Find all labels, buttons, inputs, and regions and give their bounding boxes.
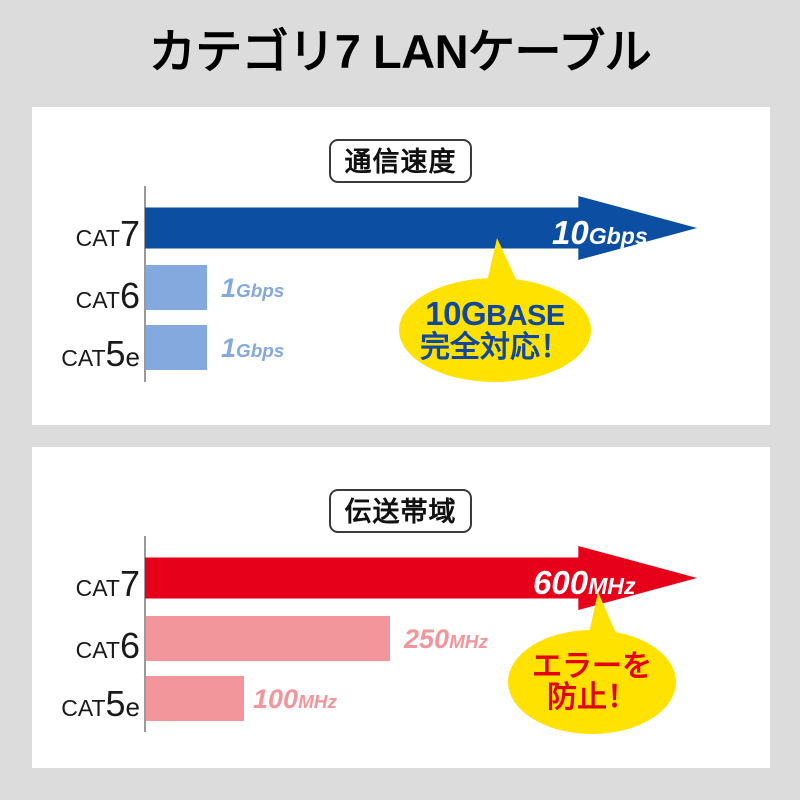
- cat-number: 7: [120, 563, 140, 604]
- bandwidth-value-cat5e: 100MHz: [253, 686, 337, 713]
- bandwidth-label-cat7: CAT7: [5, 563, 140, 605]
- bandwidth-value-cat6: 250MHz: [404, 626, 488, 653]
- cat-suffix: e: [126, 692, 140, 722]
- bandwidth-value-cat6-unit: MHz: [449, 632, 488, 653]
- speed-label-cat6: CAT6: [5, 275, 140, 317]
- speed-value-cat6-unit: Gbps: [236, 281, 284, 302]
- speed-value-cat7-number: 10: [552, 214, 589, 251]
- callout-error-prevention: エラーを 防止！: [508, 630, 676, 734]
- bandwidth-label-cat6: CAT6: [5, 625, 140, 667]
- bandwidth-value-cat7-number: 600: [533, 564, 588, 601]
- section-heading-speed: 通信速度: [329, 139, 472, 183]
- speed-value-cat6-number: 1: [221, 273, 236, 303]
- bandwidth-value-cat5e-number: 100: [253, 684, 298, 714]
- cat-prefix: CAT: [76, 287, 120, 313]
- speed-value-cat5e-number: 1: [221, 333, 236, 363]
- cat-prefix: CAT: [76, 637, 120, 663]
- bandwidth-bar-cat5e: [146, 676, 244, 721]
- cat-number: 6: [120, 625, 140, 666]
- speed-value-cat7-unit: Gbps: [589, 223, 648, 249]
- speed-value-cat5e: 1Gbps: [221, 335, 284, 362]
- callout-10gbase-line1-small: BASE: [486, 300, 565, 332]
- speed-bar-cat6: [146, 265, 207, 310]
- cat-prefix: CAT: [76, 575, 120, 601]
- speed-label-cat5e: CAT5e: [5, 333, 140, 375]
- bandwidth-value-cat5e-unit: MHz: [298, 692, 337, 713]
- section-heading-bandwidth: 伝送帯域: [329, 489, 472, 533]
- bandwidth-value-cat7: 600MHz: [533, 566, 636, 599]
- callout-10gbase-line1-big: 10G: [425, 295, 486, 332]
- bandwidth-label-cat5e: CAT5e: [5, 683, 140, 725]
- callout-error-prevention-line1: エラーを: [532, 651, 652, 683]
- cat-prefix: CAT: [76, 225, 120, 251]
- cat-number: 5: [106, 333, 126, 374]
- bandwidth-value-cat6-number: 250: [404, 624, 449, 654]
- cat-suffix: e: [126, 342, 140, 372]
- speed-bar-cat5e: [146, 325, 207, 370]
- callout-error-prevention-line2: 防止！: [547, 682, 637, 714]
- cat-number: 6: [120, 275, 140, 316]
- cat-number: 7: [120, 213, 140, 254]
- speed-label-cat7: CAT7: [5, 213, 140, 255]
- callout-10gbase: 10GBASE 完全対応！: [399, 278, 591, 382]
- page-title: カテゴリ7 LANケーブル: [0, 22, 800, 82]
- speed-value-cat7: 10Gbps: [552, 216, 648, 249]
- cat-prefix: CAT: [61, 695, 105, 721]
- bandwidth-bar-cat6: [146, 616, 390, 661]
- cat-number: 5: [106, 683, 126, 724]
- cat-prefix: CAT: [61, 345, 105, 371]
- callout-10gbase-line2: 完全対応！: [420, 332, 570, 364]
- speed-value-cat6: 1Gbps: [221, 275, 284, 302]
- speed-value-cat5e-unit: Gbps: [236, 341, 284, 362]
- callout-10gbase-line1: 10GBASE: [425, 297, 564, 332]
